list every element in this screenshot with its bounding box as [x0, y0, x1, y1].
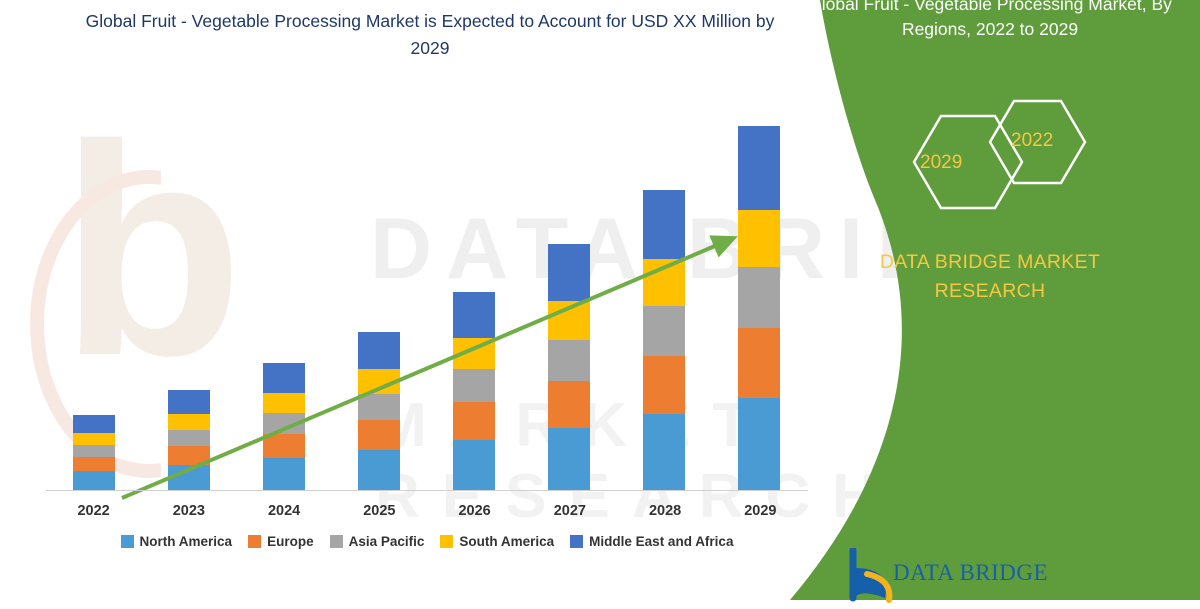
bar-column — [616, 110, 711, 490]
hexagon-label-2022: 2022 — [1011, 130, 1053, 152]
bar-segment — [73, 457, 115, 471]
bar-column — [141, 110, 236, 490]
brand-name: DATA BRIDGE MARKET RESEARCH — [800, 248, 1180, 306]
x-tick-label: 2023 — [141, 498, 236, 524]
bar-column — [236, 110, 331, 490]
stacked-bar — [73, 415, 115, 490]
chart-legend: North AmericaEuropeAsia PacificSouth Ame… — [46, 534, 808, 549]
legend-item[interactable]: South America — [440, 534, 554, 549]
bar-segment — [358, 369, 400, 394]
bar-segment — [643, 190, 685, 259]
bar-segment — [168, 430, 210, 446]
legend-swatch-icon — [570, 535, 583, 548]
bar-group — [46, 110, 806, 490]
bar-segment — [738, 267, 780, 328]
chart-plot-area — [46, 110, 806, 490]
bar-segment — [263, 363, 305, 393]
legend-swatch-icon — [330, 535, 343, 548]
hexagon-group: 2029 2022 — [898, 92, 1098, 232]
logo-text: DATA BRIDGE — [893, 560, 1048, 586]
bar-segment — [358, 450, 400, 490]
bar-segment — [453, 440, 495, 490]
bar-segment — [263, 434, 305, 458]
bar-segment — [73, 433, 115, 445]
x-axis-tick-labels: 20222023202420252026202720282029 — [46, 498, 808, 524]
bar-segment — [643, 414, 685, 490]
x-tick-label: 2025 — [332, 498, 427, 524]
legend-label: North America — [140, 534, 233, 549]
bar-segment — [738, 126, 780, 210]
stacked-bar — [453, 292, 495, 490]
bar-segment — [168, 446, 210, 465]
bar-segment — [548, 301, 590, 340]
bar-segment — [548, 381, 590, 428]
x-tick-label: 2026 — [427, 498, 522, 524]
x-tick-label: 2028 — [618, 498, 713, 524]
legend-item[interactable]: Europe — [248, 534, 314, 549]
brand-line-1: DATA BRIDGE MARKET — [800, 248, 1180, 277]
legend-item[interactable]: North America — [121, 534, 233, 549]
legend-swatch-icon — [440, 535, 453, 548]
bar-segment — [643, 259, 685, 306]
bar-segment — [643, 356, 685, 414]
bar-segment — [168, 465, 210, 490]
bar-segment — [453, 402, 495, 440]
stacked-bar — [738, 126, 780, 490]
bar-segment — [168, 390, 210, 414]
bar-segment — [168, 414, 210, 430]
bar-column — [46, 110, 141, 490]
bar-segment — [453, 338, 495, 369]
bar-segment — [738, 328, 780, 398]
bar-column — [426, 110, 521, 490]
legend-label: Asia Pacific — [349, 534, 425, 549]
legend-swatch-icon — [121, 535, 134, 548]
bar-segment — [738, 398, 780, 490]
bar-segment — [73, 471, 115, 490]
bar-column — [521, 110, 616, 490]
page-title: Global Fruit - Vegetable Processing Mark… — [70, 8, 790, 62]
legend-swatch-icon — [248, 535, 261, 548]
bar-segment — [453, 292, 495, 338]
bar-segment — [453, 369, 495, 402]
bar-segment — [548, 244, 590, 301]
bar-segment — [643, 306, 685, 356]
legend-label: Europe — [267, 534, 314, 549]
x-axis-line — [46, 490, 808, 491]
panel-title: Global Fruit - Vegetable Processing Mark… — [780, 0, 1200, 42]
bar-segment — [263, 413, 305, 434]
bar-segment — [263, 458, 305, 490]
bar-segment — [358, 394, 400, 420]
stacked-bar — [643, 190, 685, 490]
stacked-bar — [548, 244, 590, 490]
x-tick-label: 2027 — [522, 498, 617, 524]
brand-panel: Global Fruit - Vegetable Processing Mark… — [780, 0, 1200, 600]
legend-label: South America — [459, 534, 554, 549]
x-tick-label: 2024 — [237, 498, 332, 524]
bar-segment — [263, 393, 305, 413]
bar-column — [331, 110, 426, 490]
stacked-bar — [168, 390, 210, 490]
bar-segment — [548, 340, 590, 381]
brand-line-2: RESEARCH — [800, 277, 1180, 306]
bar-segment — [358, 332, 400, 369]
legend-item[interactable]: Asia Pacific — [330, 534, 425, 549]
stacked-bar — [358, 332, 400, 490]
bar-segment — [73, 445, 115, 457]
stacked-bar — [263, 363, 305, 490]
x-tick-label: 2022 — [46, 498, 141, 524]
bar-segment — [358, 420, 400, 450]
bar-segment — [73, 415, 115, 433]
bar-segment — [548, 428, 590, 490]
bar-segment — [738, 210, 780, 267]
hexagon-label-2029: 2029 — [920, 152, 962, 174]
legend-item[interactable]: Middle East and Africa — [570, 534, 733, 549]
legend-label: Middle East and Africa — [589, 534, 733, 549]
data-bridge-logo: DATA BRIDGE — [845, 548, 1085, 604]
